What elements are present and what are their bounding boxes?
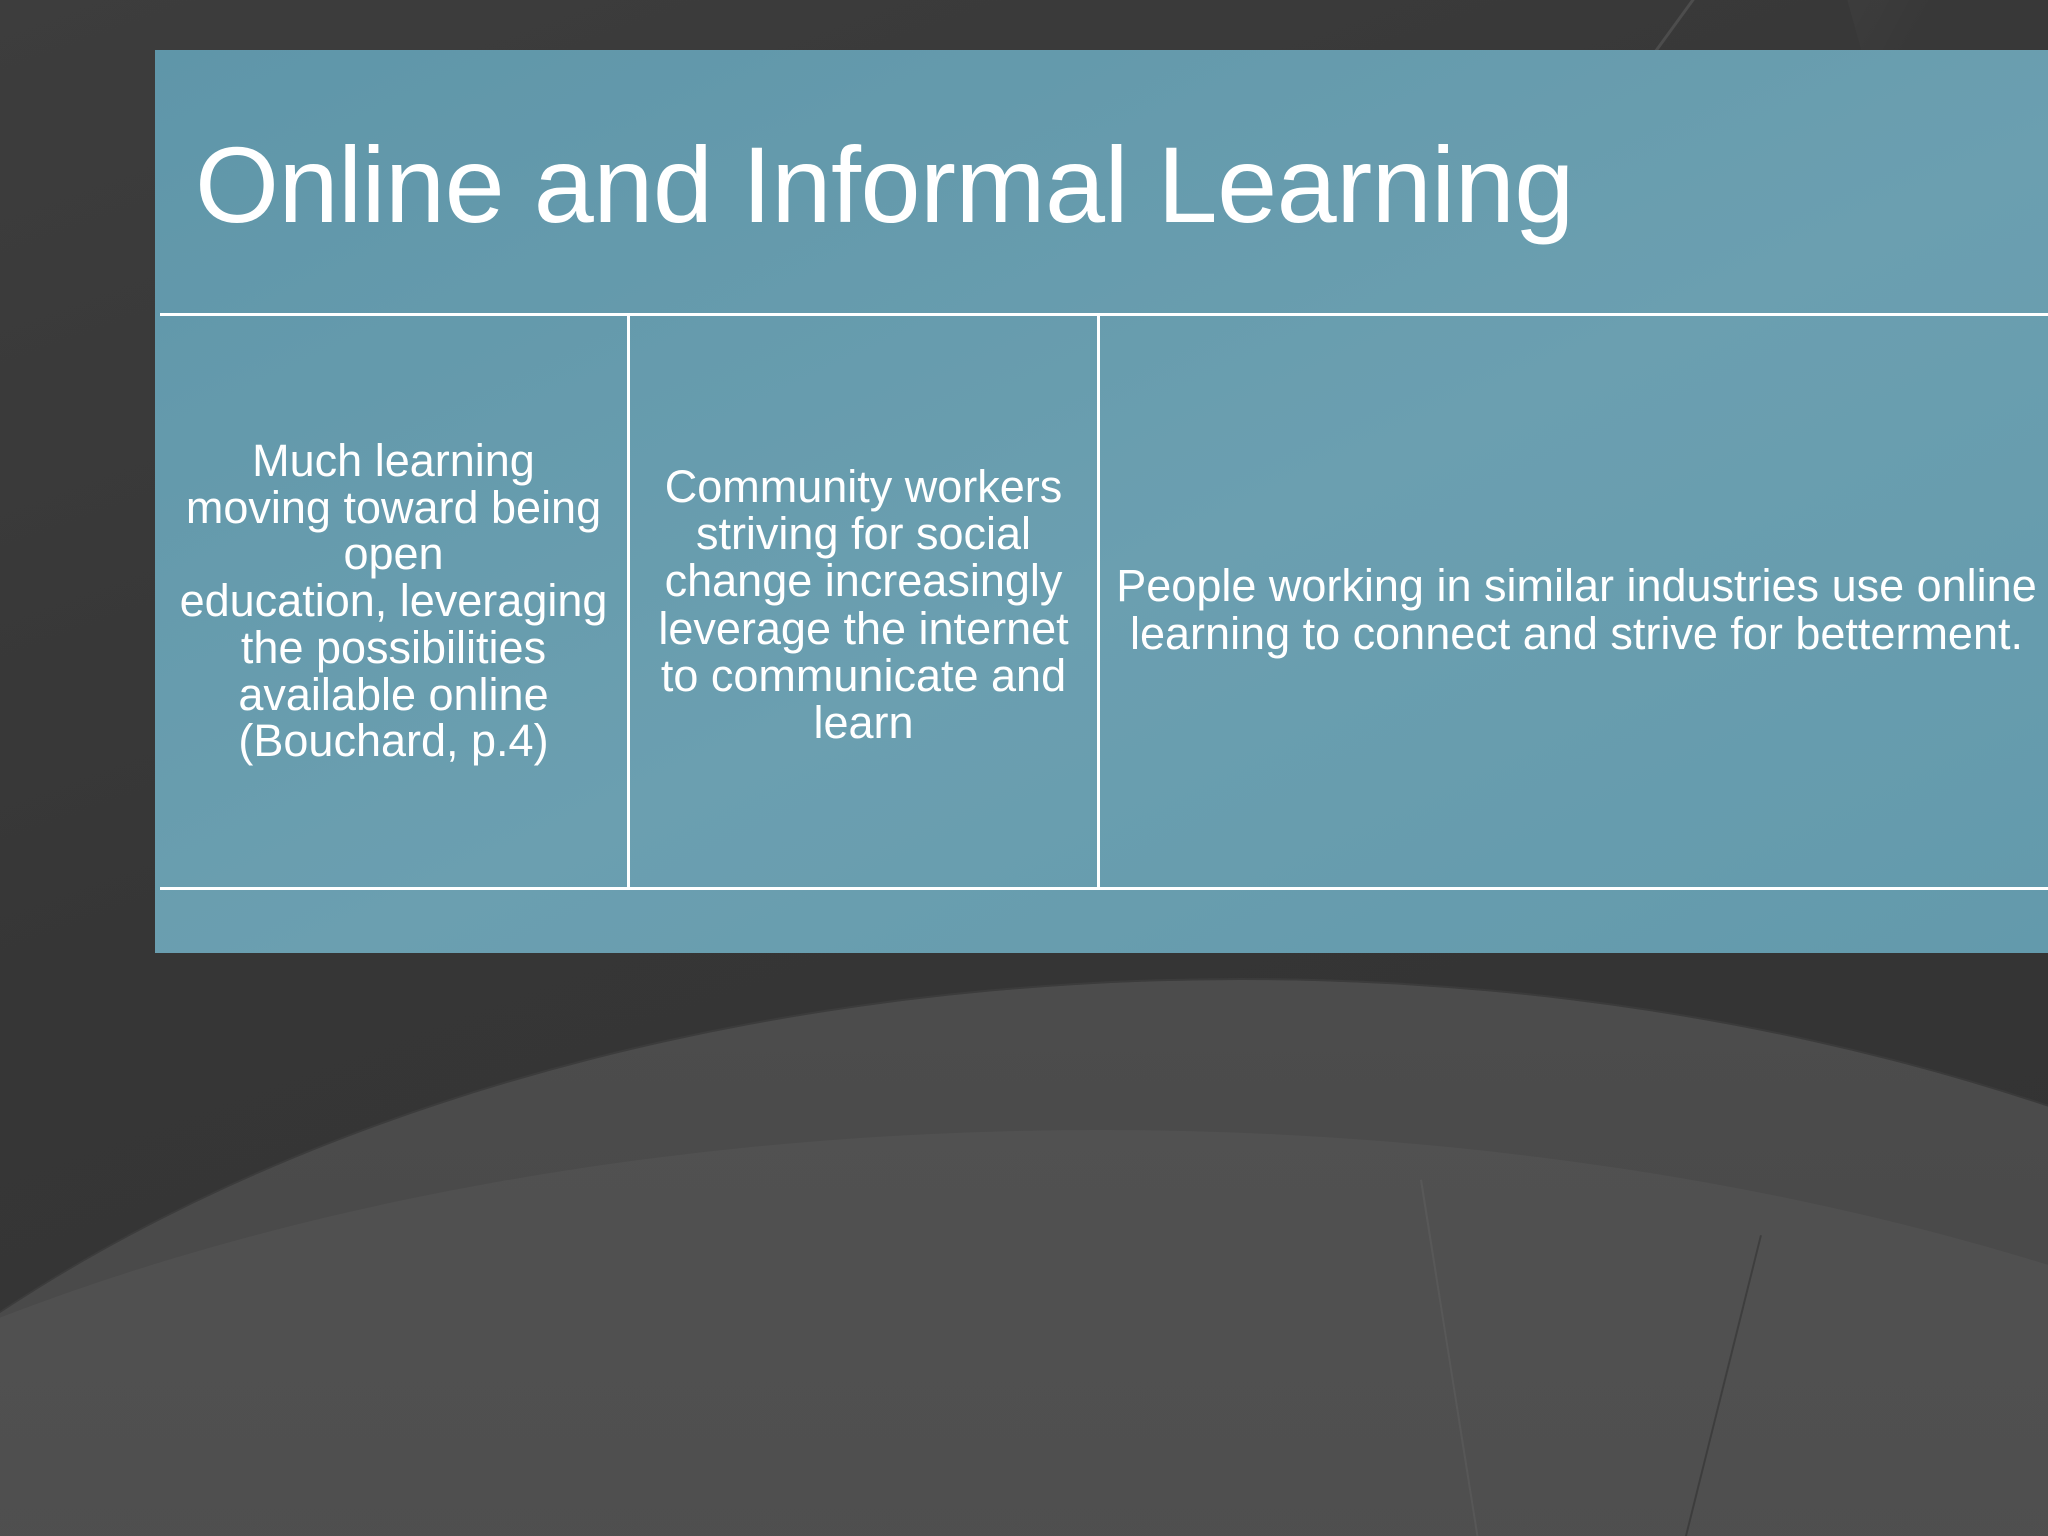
- matrix-cell-3[interactable]: People working in similar industries use…: [1100, 316, 2048, 887]
- slide-title: Online and Informal Learning: [195, 128, 2045, 241]
- matrix-cell-1[interactable]: Much learning moving toward being open e…: [160, 316, 630, 887]
- three-column-matrix: Much learning moving toward being open e…: [160, 313, 2048, 890]
- matrix-cell-1-text: Much learning moving toward being open e…: [176, 438, 611, 766]
- matrix-cell-2[interactable]: Community workers striving for social ch…: [630, 316, 1100, 887]
- matrix-cell-3-text: People working in similar industries use…: [1116, 562, 2037, 657]
- slide-stage: Online and Informal Learning Much learni…: [0, 0, 2048, 1536]
- slide-panel: Online and Informal Learning Much learni…: [155, 50, 2048, 953]
- slide-footer-band: [155, 893, 2048, 953]
- matrix-cell-2-text: Community workers striving for social ch…: [646, 463, 1081, 747]
